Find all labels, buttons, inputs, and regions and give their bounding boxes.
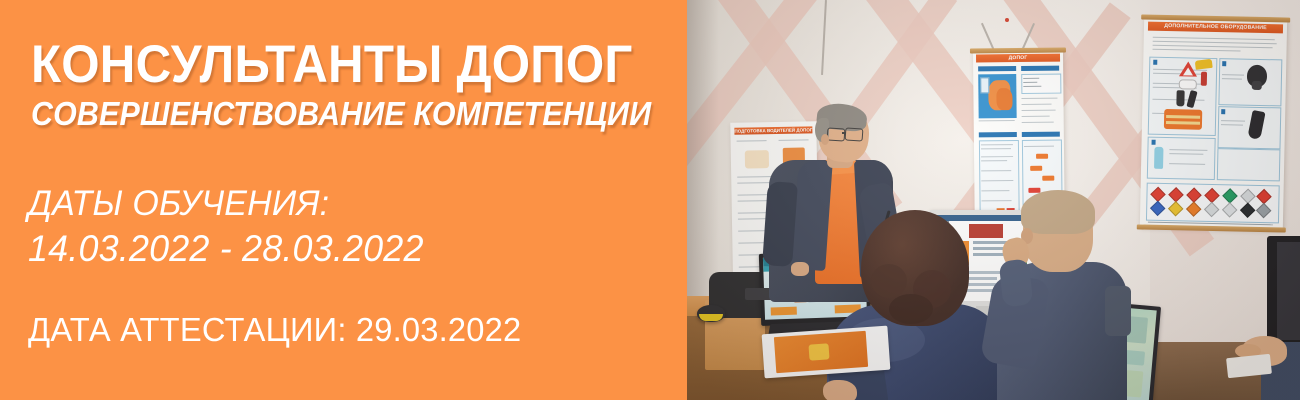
student-man-forearm <box>999 259 1034 308</box>
europe-map <box>978 74 1016 118</box>
flow-node <box>1036 154 1048 159</box>
student-woman-hair-curl <box>871 264 907 298</box>
training-dates-value: 14.03.2022 - 28.03.2022 <box>28 230 424 267</box>
person-sliver-left-edge <box>1105 286 1131 336</box>
student-woman-hair-curl <box>889 294 933 324</box>
webpage-block <box>771 307 797 316</box>
poster-additional-equipment: ДОПОЛНИТЕЛЬНОЕ ОБОРУДОВАНИЕ <box>1140 17 1287 230</box>
fire-extinguisher-icon <box>1201 72 1207 86</box>
orange-folder-emblem <box>808 343 829 360</box>
classroom-photo: ДОПОЛНИТЕЛЬНОЕ ОБОРУДОВАНИЕ <box>687 0 1300 400</box>
banner-title: КОНСУЛЬТАНТЫ ДОПОГ <box>31 38 633 91</box>
poster-section-header <box>1021 66 1059 71</box>
training-banner: КОНСУЛЬТАНТЫ ДОПОГ СОВЕРШЕНСТВОВАНИЕ КОМ… <box>0 0 1300 400</box>
poster-rod-top <box>970 48 1066 54</box>
map-legend-box <box>980 77 989 93</box>
poster-text-line <box>1022 122 1054 123</box>
student-man-hair <box>1021 190 1095 234</box>
eyewash-bottle-icon <box>1154 147 1163 169</box>
poster-text-line <box>1023 86 1041 87</box>
poster-section-header <box>1022 132 1060 137</box>
poster-item-number <box>1221 109 1225 114</box>
poster-item-number <box>1152 140 1156 145</box>
instructor-glasses-left-lens <box>827 127 846 141</box>
instructor-glasses-right-lens <box>845 127 864 141</box>
board-text-line <box>737 140 767 142</box>
computer-mouse-accent <box>699 314 723 321</box>
poster-text-line <box>979 120 1015 121</box>
poster-text-line <box>1153 45 1273 49</box>
student-woman-hand <box>823 380 857 400</box>
poster-code-table <box>1021 74 1061 94</box>
instructor-hand-left <box>791 262 809 276</box>
warning-triangle-inner <box>1183 67 1193 75</box>
poster-text-line <box>1021 98 1057 99</box>
poster-text-line <box>1153 37 1275 41</box>
poster-section-header <box>979 132 1017 137</box>
safety-vest-icon <box>1164 109 1202 130</box>
poster-header-label: ДОПОГ <box>976 54 1061 63</box>
gas-mask-filter <box>1252 81 1262 90</box>
instructor-ear <box>821 134 829 145</box>
poster-panel <box>1217 148 1281 181</box>
training-dates-label: ДАТЫ ОБУЧЕНИЯ: <box>28 186 329 221</box>
flow-node <box>1030 166 1042 171</box>
poster-text-line <box>1022 116 1050 117</box>
instructor-arm-left <box>762 181 798 267</box>
student-foreground <box>1227 300 1300 400</box>
attestation-date-line: ДАТА АТТЕСТАЦИИ: 29.03.2022 <box>28 313 521 346</box>
banner-subtitle: СОВЕРШЕНСТВОВАНИЕ КОМПЕТЕНЦИИ <box>31 97 651 130</box>
poster-item-number <box>1153 60 1157 65</box>
poster-text-line <box>1022 110 1056 111</box>
gloves-icon <box>1179 79 1197 89</box>
poster-section-header <box>978 66 1016 71</box>
instructor-glasses-bridge <box>842 132 846 134</box>
map-landmass <box>996 88 1012 110</box>
banner-text-panel: КОНСУЛЬТАНТЫ ДОПОГ СОВЕРШЕНСТВОВАНИЕ КОМ… <box>0 0 687 400</box>
poster-text-line <box>1022 104 1052 105</box>
boots-icon <box>1176 90 1184 106</box>
flow-node <box>1042 176 1054 181</box>
poster-text-line <box>1023 82 1037 83</box>
poster-header-label: ДОПОЛНИТЕЛЬНОЕ ОБОРУДОВАНИЕ <box>1148 22 1283 34</box>
poster-text-line <box>1153 49 1241 52</box>
poster-item-number <box>1222 61 1226 66</box>
wall-hook <box>1005 18 1009 22</box>
poster-text-line <box>1023 78 1039 79</box>
poster-text-line <box>1153 41 1277 45</box>
